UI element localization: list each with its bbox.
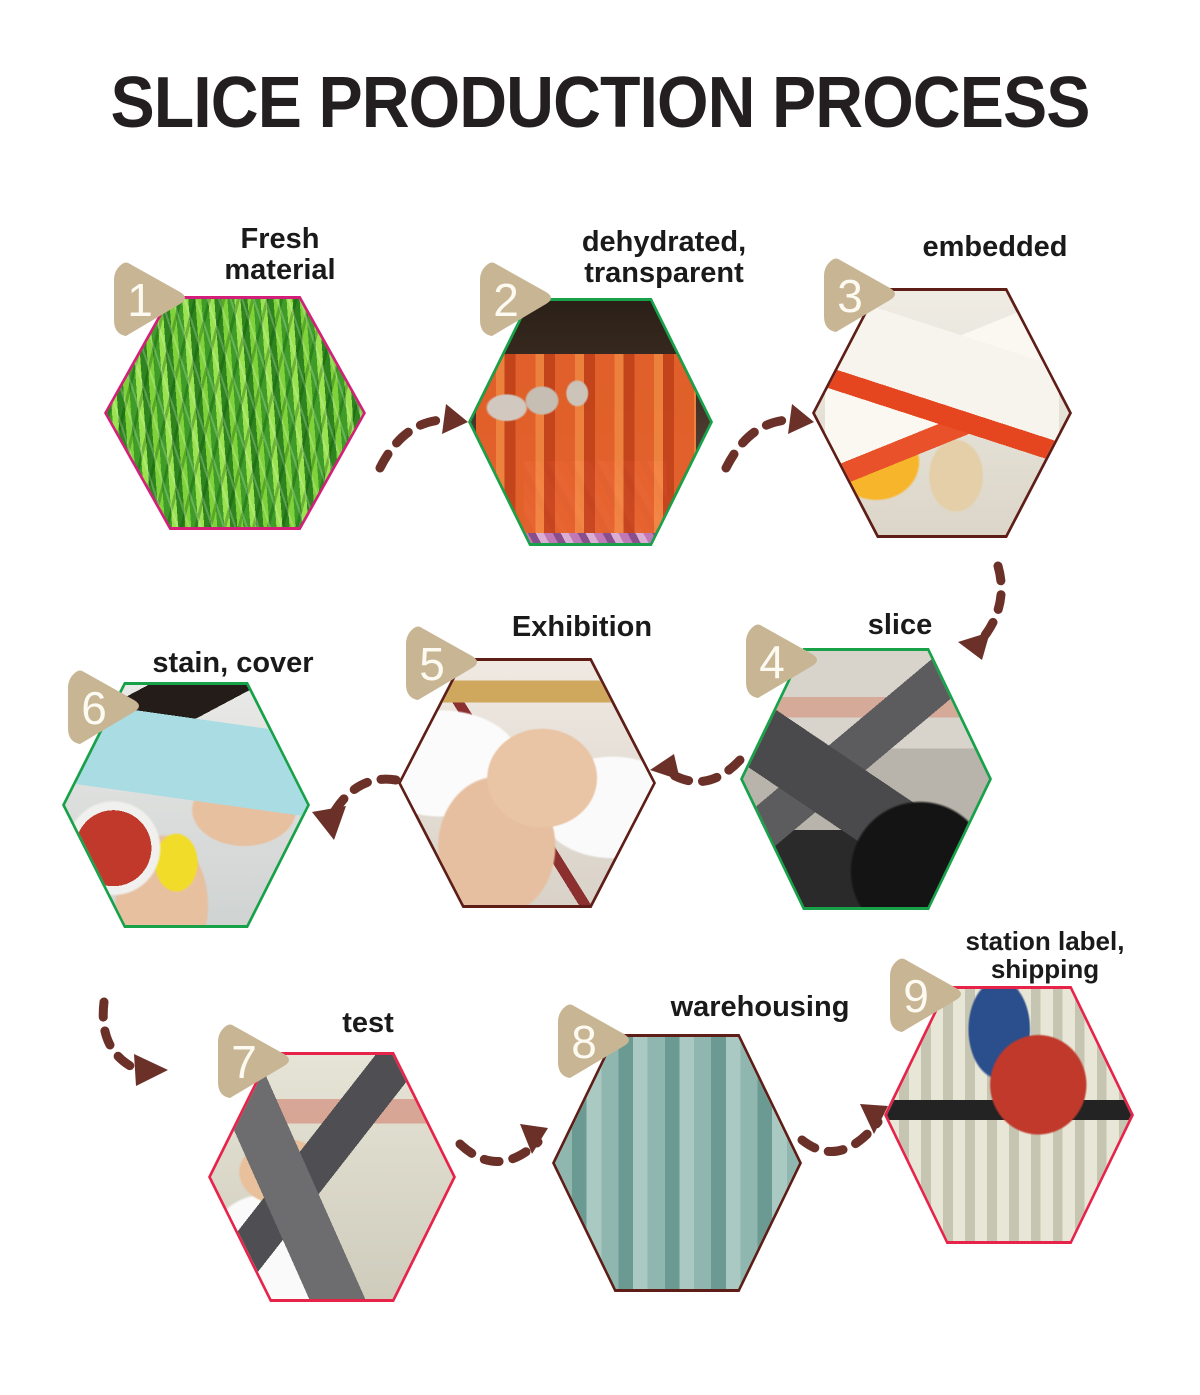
step-3-label: embedded [860, 232, 1130, 263]
step-8-label: warehousing [620, 992, 900, 1023]
step-5-label: Exhibition [452, 612, 712, 643]
step-6-label: stain, cover [108, 648, 358, 679]
step-7-label: test [268, 1008, 468, 1039]
arrow-step6-to-step7 [82, 988, 192, 1098]
step-1-label: Fresh material [170, 224, 390, 286]
step-9-label: station label, shipping [920, 928, 1170, 984]
step-3-number-badge: 3 [818, 254, 904, 338]
arrow-step4-to-step5 [640, 738, 750, 808]
slice-production-process-diagram: SLICE PRODUCTION PROCESS 1 Fresh materia… [0, 0, 1200, 1395]
page-title: SLICE PRODUCTION PROCESS [48, 62, 1152, 144]
step-2-label: dehydrated, transparent [524, 227, 804, 289]
step-4-label: slice [790, 610, 1010, 641]
arrow-step7-to-step8 [454, 1114, 564, 1194]
arrow-step5-to-step6 [300, 756, 410, 856]
arrow-step1-to-step2 [372, 398, 482, 478]
